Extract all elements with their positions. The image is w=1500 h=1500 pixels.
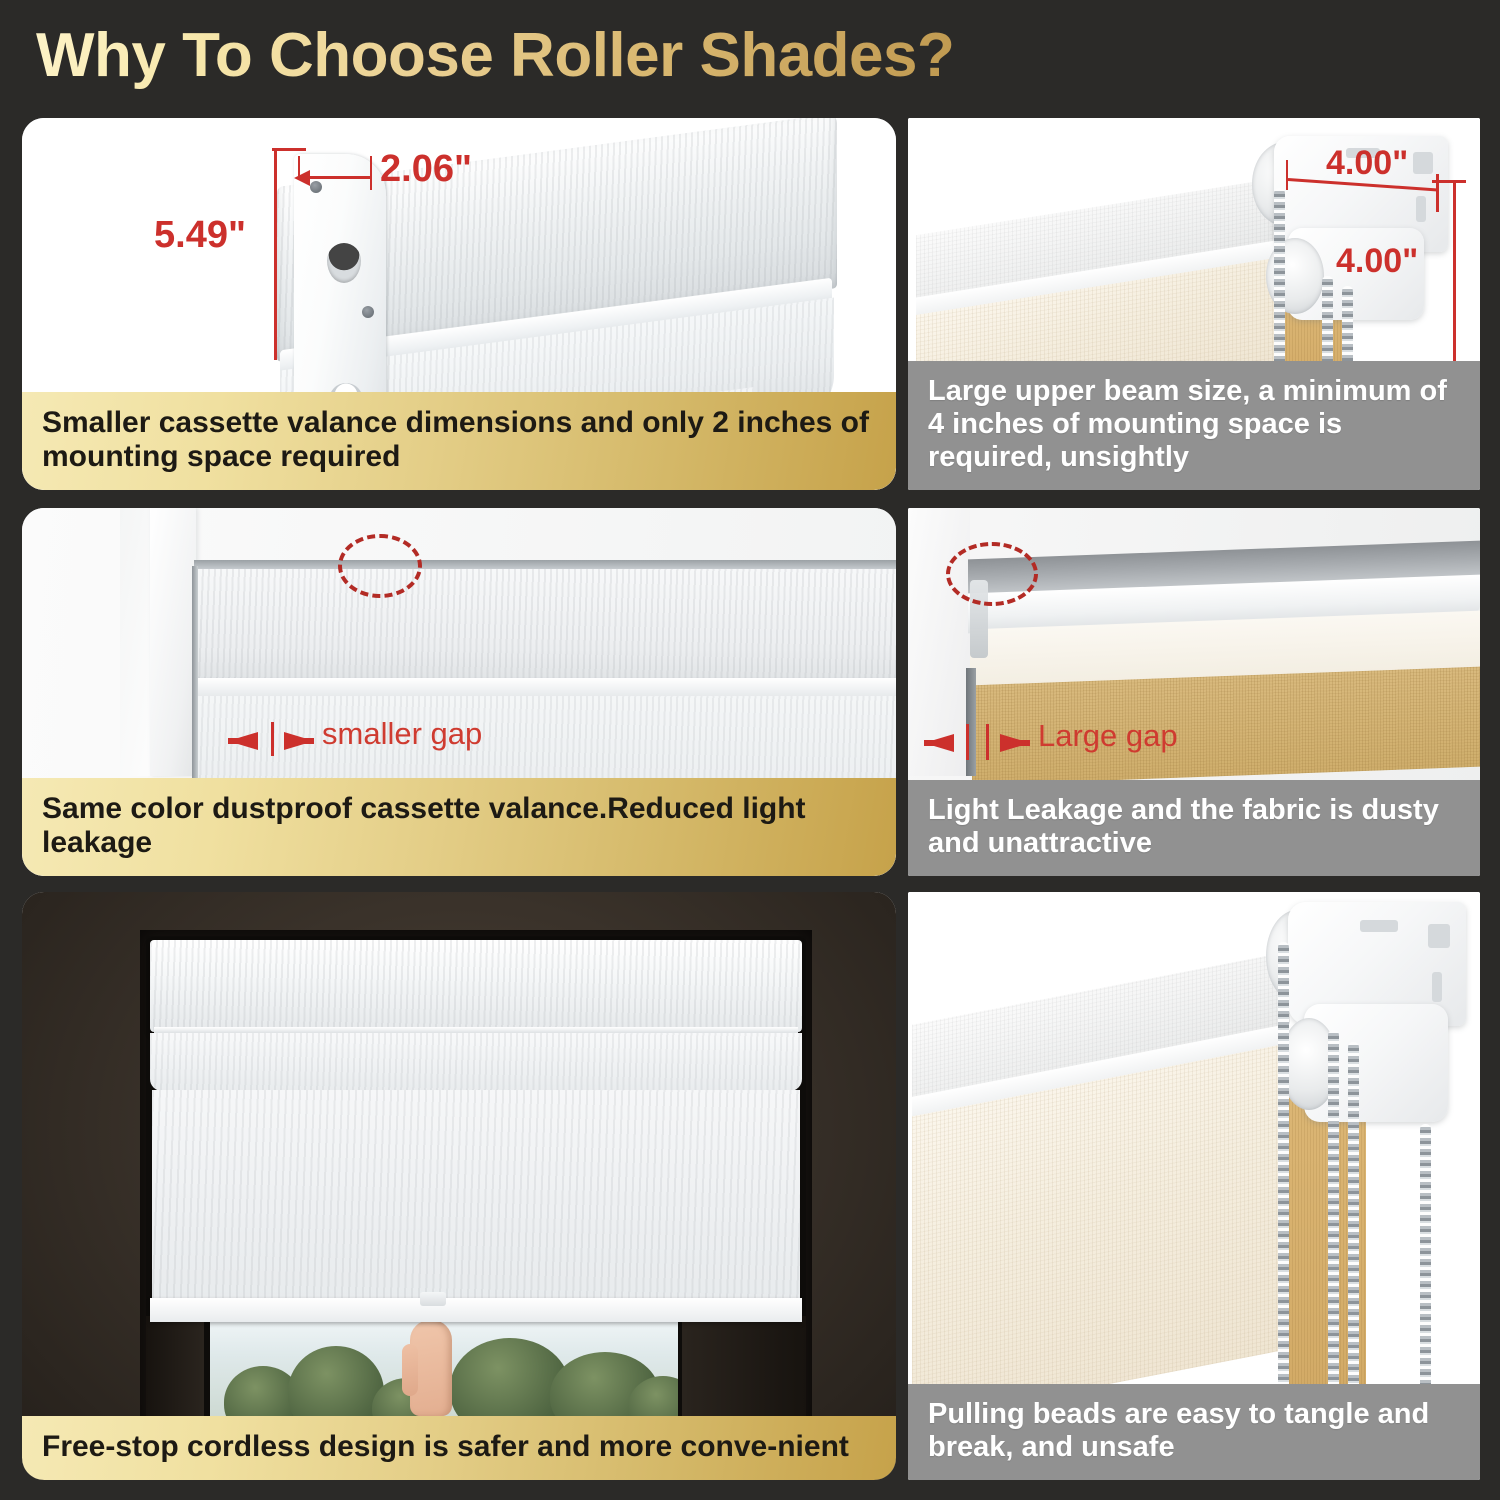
window-frame-inner <box>150 508 196 776</box>
middle-rail <box>196 678 896 696</box>
window-jamb-right <box>682 1316 806 1432</box>
bead-chain[interactable] <box>1420 1124 1431 1402</box>
title-bar: Why To Choose Roller Shades? <box>0 0 1500 112</box>
bead-chain[interactable] <box>1278 942 1289 1402</box>
screw-icon <box>362 306 374 318</box>
shade-fabric <box>152 1090 800 1300</box>
caption-bottom-right: Pulling beads are easy to tangle and bre… <box>908 1384 1480 1480</box>
panel-top-left: 2.06" 5.49" Smaller cassette valance dim… <box>22 118 896 490</box>
dim-tick <box>1286 160 1288 190</box>
dimension-label-height: 5.49" <box>154 214 246 257</box>
dim-arrow-left-icon <box>294 168 312 188</box>
bead-chain[interactable] <box>1348 1042 1359 1402</box>
highlight-circle-icon <box>338 534 422 598</box>
gap-arrow-left-icon <box>996 732 1030 754</box>
gap-arrow-left-icon <box>280 730 314 752</box>
bracket-slot <box>1360 920 1398 932</box>
dimension-label-width: 2.06" <box>380 148 472 191</box>
gap-label: Large gap <box>1038 718 1178 754</box>
gap-arrow-right-icon <box>228 730 262 752</box>
caption-bottom-left: Free-stop cordless design is safer and m… <box>22 1416 896 1480</box>
panel-middle-right: Large gap Light Leakage and the fabric i… <box>908 508 1480 876</box>
window-frame-outer <box>120 508 154 776</box>
panel-top-right: 4.00" 4.00" Large upper beam size, a min… <box>908 118 1480 490</box>
gap-marker <box>986 724 989 760</box>
bracket-slot <box>1413 152 1433 174</box>
gap-marker <box>271 722 274 756</box>
cordless-shade-window-photo <box>22 892 896 1480</box>
gap-arrow-right-icon <box>924 732 958 754</box>
panel-middle-left: smaller gap Same color dustproof cassett… <box>22 508 896 876</box>
caption-top-right: Large upper beam size, a minimum of 4 in… <box>908 361 1480 490</box>
page-title: Why To Choose Roller Shades? <box>36 20 954 91</box>
gap-marker <box>966 724 969 760</box>
caption-top-left: Smaller cassette valance dimensions and … <box>22 392 896 490</box>
cassette-valance <box>150 940 802 1032</box>
dim-line-vertical <box>274 148 277 360</box>
dim-line-vertical <box>1453 180 1456 376</box>
cassette-valance-face <box>196 569 896 684</box>
head-rail <box>194 560 896 569</box>
dim-tick <box>272 148 306 151</box>
bead-chain[interactable] <box>1328 1030 1339 1402</box>
highlight-circle-icon <box>946 542 1038 606</box>
panel-bottom-right: Pulling beads are easy to tangle and bre… <box>908 892 1480 1480</box>
dimension-label-height: 4.00" <box>1336 242 1418 281</box>
gap-label: smaller gap <box>322 716 482 752</box>
dimension-label-width: 4.00" <box>1326 144 1408 183</box>
cassette-lower <box>150 1033 802 1091</box>
panel-bottom-left: Free-stop cordless design is safer and m… <box>22 892 896 1480</box>
bracket-slot <box>1416 196 1426 222</box>
caption-middle-left: Same color dustproof cassette valance.Re… <box>22 778 896 876</box>
bracket-slot <box>1432 972 1442 1002</box>
dim-tick <box>370 156 372 190</box>
bottom-rail[interactable] <box>150 1298 802 1322</box>
thumb <box>402 1344 418 1396</box>
dim-tick <box>1432 180 1466 183</box>
bracket-slot <box>1428 924 1450 948</box>
pull-grip[interactable] <box>420 1292 446 1306</box>
caption-middle-right: Light Leakage and the fabric is dusty an… <box>908 780 1480 876</box>
window-jamb-left <box>146 1316 204 1432</box>
